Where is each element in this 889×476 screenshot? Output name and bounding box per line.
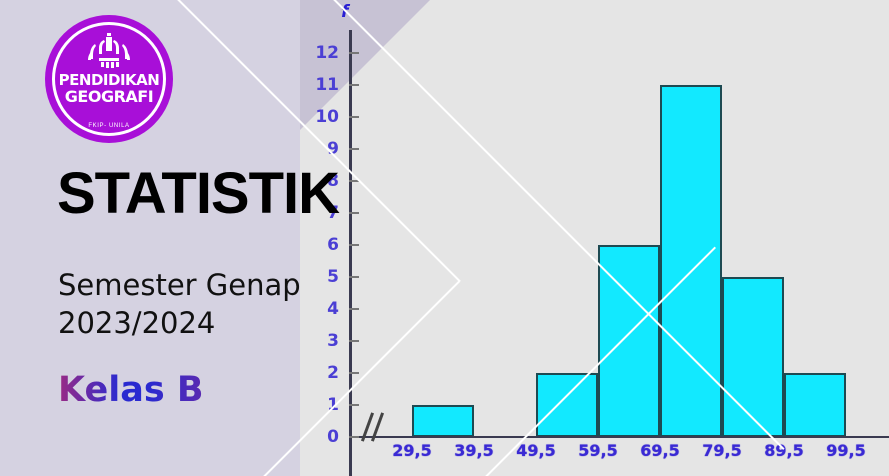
x-tick-label: 69,5 — [630, 441, 690, 460]
histogram-bar — [536, 373, 598, 437]
y-tick-label: 10 — [309, 107, 339, 127]
y-tick — [349, 84, 359, 86]
logo-subtitle: FKIP- UNILA — [45, 123, 173, 129]
y-tick — [349, 340, 359, 342]
y-tick — [349, 404, 359, 406]
x-tick-label: 29,5 — [382, 441, 442, 460]
axis-break-symbol — [362, 412, 390, 444]
y-tick-label: 6 — [313, 235, 339, 255]
x-tick-label: 99,5 — [816, 441, 876, 460]
x-tick-label: 59,5 — [568, 441, 628, 460]
y-tick — [349, 276, 359, 278]
academic-year-label: 2023/2024 — [58, 306, 215, 340]
y-tick — [349, 372, 359, 374]
class-label: Kelas B — [58, 370, 204, 410]
logo: PENDIDIKAN GEOGRAFI FKIP- UNILA — [45, 15, 173, 143]
y-tick — [349, 52, 359, 54]
y-tick-label: 11 — [309, 75, 339, 95]
y-tick — [349, 212, 359, 214]
logo-line2: GEOGRAFI — [45, 89, 173, 105]
y-tick-label: 2 — [313, 363, 339, 383]
logo-text: PENDIDIKAN GEOGRAFI — [45, 73, 173, 105]
y-tick-label: 4 — [313, 299, 339, 319]
histogram-bar — [784, 373, 846, 437]
y-tick — [349, 308, 359, 310]
y-tick — [349, 116, 359, 118]
x-axis-line — [349, 436, 889, 438]
y-tick-label: 3 — [313, 331, 339, 351]
x-tick-label: 89,5 — [754, 441, 814, 460]
y-tick-label: 5 — [313, 267, 339, 287]
y-tick — [349, 436, 359, 438]
y-tick-label: 12 — [309, 43, 339, 63]
logo-line1: PENDIDIKAN — [45, 73, 173, 88]
y-tick — [349, 244, 359, 246]
semester-label: Semester Genap — [58, 268, 301, 302]
x-tick-label: 39,5 — [444, 441, 504, 460]
slide-canvas: f 0 1 2 3 4 5 6 7 8 9 10 11 12 — [0, 0, 889, 476]
x-tick-label: 79,5 — [692, 441, 752, 460]
tut-wuri-handayani-emblem-icon — [82, 31, 136, 71]
histogram-bar — [412, 405, 474, 437]
y-axis-line — [349, 30, 352, 476]
y-tick — [349, 148, 359, 150]
y-tick-label: 0 — [313, 427, 339, 447]
histogram-bar — [660, 85, 722, 437]
page-title: STATISTIK — [57, 160, 339, 227]
histogram-bar — [722, 277, 784, 437]
